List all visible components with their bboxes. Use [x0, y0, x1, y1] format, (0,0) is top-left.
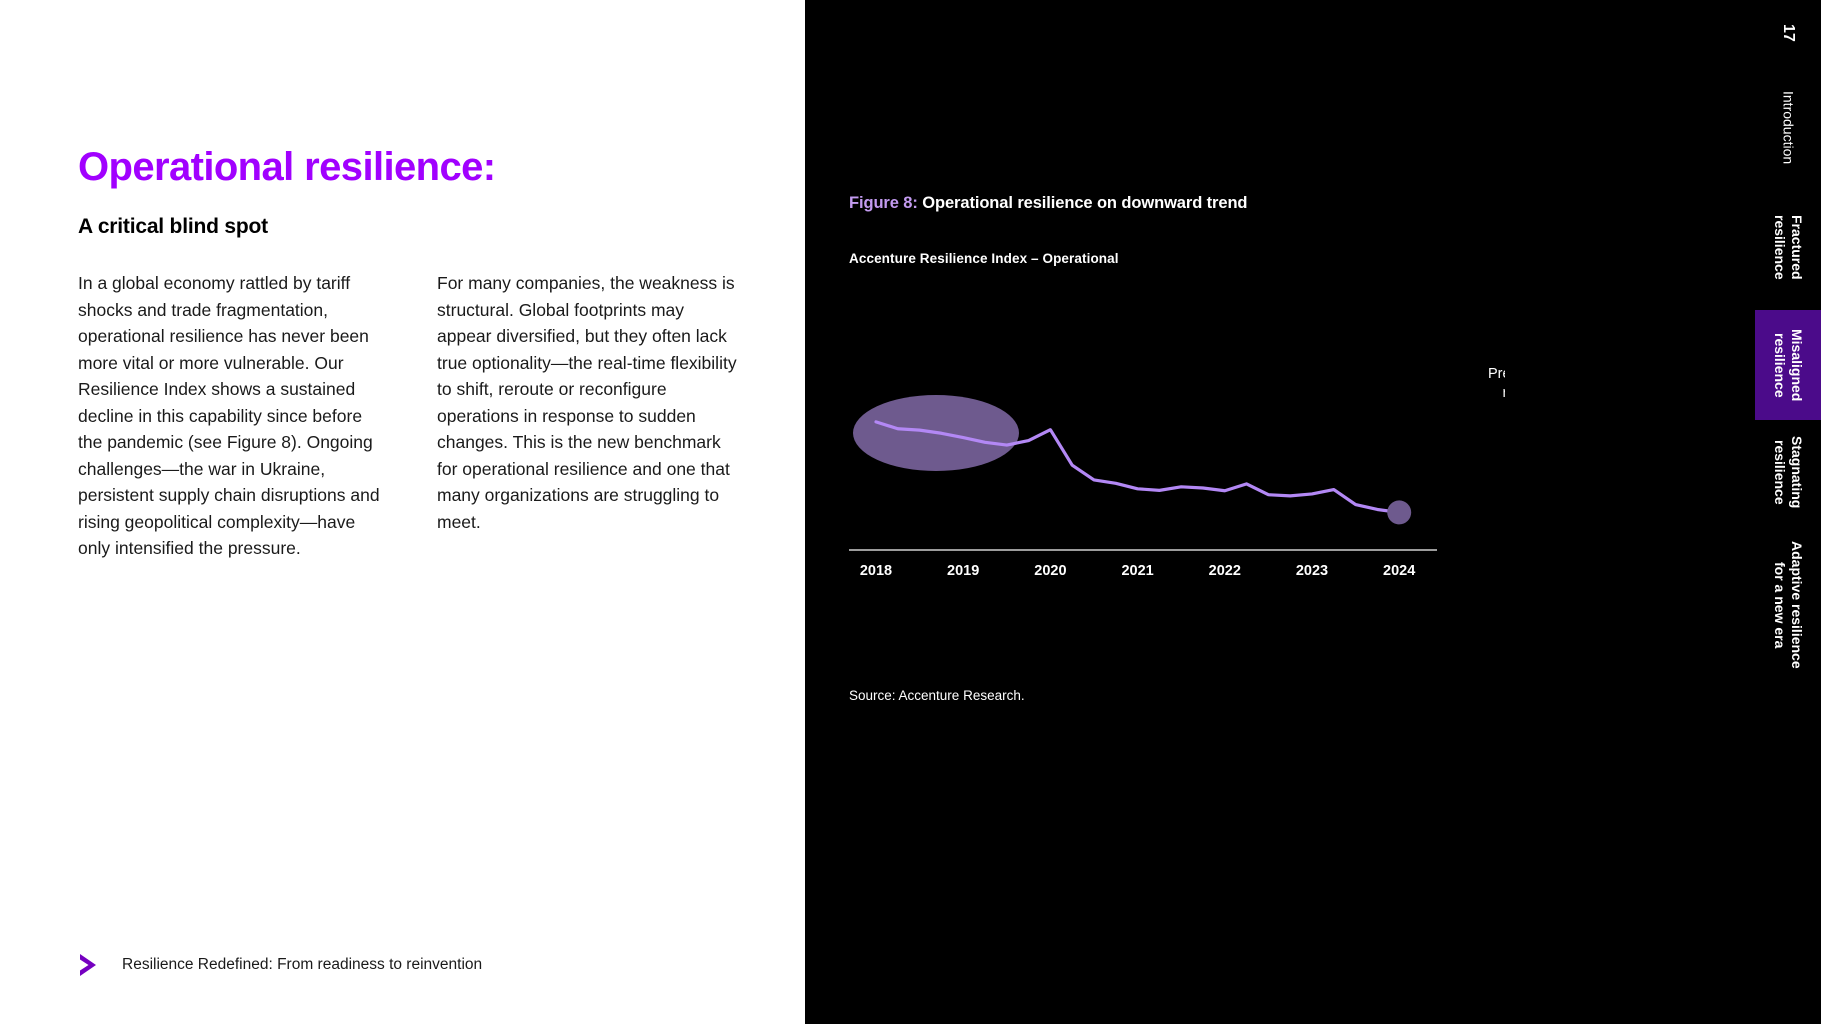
- nav-tab-adaptive-resilience-for-a-new-era[interactable]: Adaptive resilience for a new era: [1755, 535, 1821, 675]
- document-page-left: Operational resilience: A critical blind…: [0, 0, 805, 1024]
- page-title: Operational resilience:: [78, 145, 495, 189]
- page-subtitle: A critical blind spot: [78, 215, 268, 239]
- nav-tab-introduction[interactable]: Introduction: [1755, 70, 1821, 185]
- x-axis-tick-2021: 2021: [1121, 563, 1153, 579]
- figure-heading: Figure 8: Operational resilience on down…: [849, 194, 1247, 213]
- nav-tab-label: Introduction: [1780, 91, 1797, 164]
- page-number: 17: [1779, 24, 1797, 42]
- nav-tab-label: Adaptive resilience for a new era: [1771, 541, 1805, 669]
- x-axis-tick-2020: 2020: [1034, 563, 1066, 579]
- figure-heading-text: Operational resilience on downward trend: [918, 194, 1248, 212]
- body-column-1: In a global economy rattled by tariff sh…: [78, 270, 390, 562]
- page-footer: Resilience Redefined: From readiness to …: [78, 952, 482, 978]
- section-navigation-sidebar: 17 IntroductionFractured resilienceMisal…: [1505, 0, 1821, 1024]
- body-column-2: For many companies, the weakness is stru…: [437, 270, 742, 535]
- figure-source-note: Source: Accenture Research.: [849, 688, 1025, 703]
- nav-tab-label: Fractured resilience: [1771, 215, 1805, 280]
- footer-label: Resilience Redefined: From readiness to …: [122, 956, 482, 974]
- figure-subtitle: Accenture Resilience Index – Operational: [849, 251, 1119, 266]
- x-axis-tick-2023: 2023: [1296, 563, 1328, 579]
- nav-tab-fractured-resilience[interactable]: Fractured resilience: [1755, 195, 1821, 300]
- x-axis-tick-2022: 2022: [1209, 563, 1241, 579]
- present-resilience-marker: [1387, 500, 1411, 524]
- x-axis-tick-2019: 2019: [947, 563, 979, 579]
- chevron-right-icon: [78, 952, 100, 978]
- nav-tab-label: Stagnating resilience: [1771, 436, 1805, 508]
- x-axis-tick-2024: 2024: [1383, 563, 1415, 579]
- nav-tab-label: Misaligned resilience: [1771, 329, 1805, 401]
- x-axis-tick-2018: 2018: [860, 563, 892, 579]
- nav-tab-stagnating-resilience[interactable]: Stagnating resilience: [1755, 420, 1821, 525]
- figure-number-label: Figure 8:: [849, 194, 918, 212]
- nav-tab-misaligned-resilience[interactable]: Misaligned resilience: [1755, 310, 1821, 420]
- figure-panel: Figure 8: Operational resilience on down…: [805, 0, 1505, 1024]
